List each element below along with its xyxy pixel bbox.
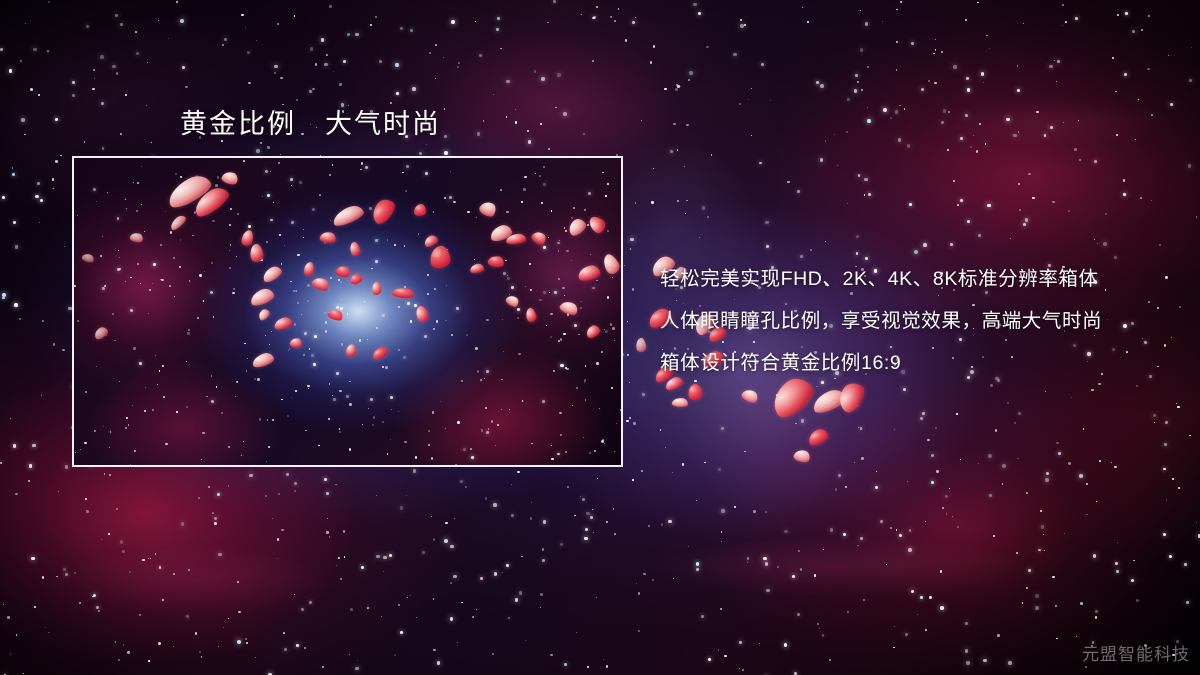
body-line-2: 人体眼睛瞳孔比例，享受视觉效果，高端大气时尚 [660,300,1180,342]
slide-canvas: 黄金比例 大气时尚 轻松完美实现FHD、2K、4K、8K标准分辨率箱体 人体眼睛… [0,0,1200,675]
page-title: 黄金比例 大气时尚 [180,102,441,141]
body-line-1: 轻松完美实现FHD、2K、4K、8K标准分辨率箱体 [660,258,1180,300]
framed-photo-content [74,158,621,465]
framed-starfield [74,158,621,465]
body-line-3: 箱体设计符合黄金比例16:9 [660,342,1180,384]
framed-nebula-photo[interactable] [72,156,623,467]
watermark: 元盟智能科技 [1082,640,1190,665]
body-copy: 轻松完美实现FHD、2K、4K、8K标准分辨率箱体 人体眼睛瞳孔比例，享受视觉效… [660,258,1180,384]
